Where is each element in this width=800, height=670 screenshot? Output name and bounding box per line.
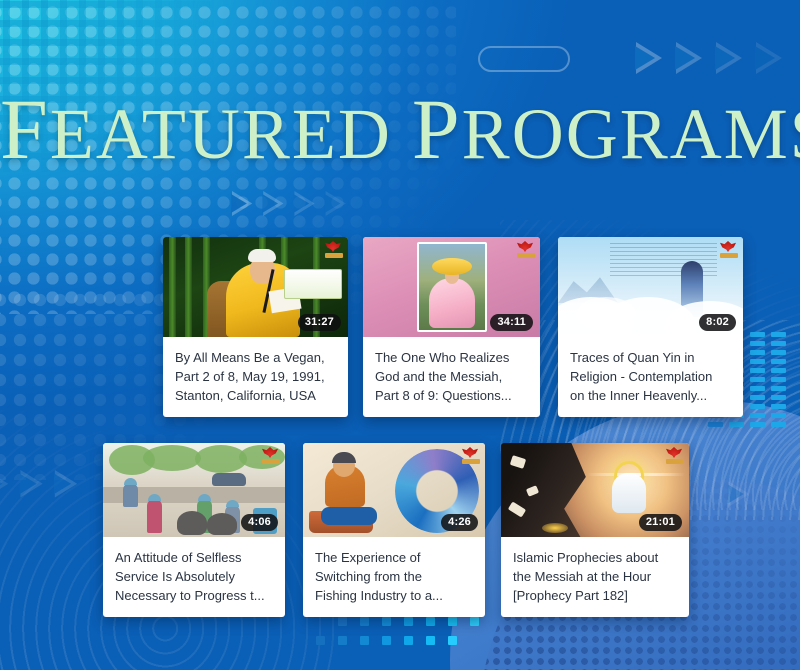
play-triangle-icon	[55, 470, 77, 498]
program-card[interactable]: 34:11 The One Who Realizes God and the M…	[363, 237, 540, 417]
channel-logo-icon	[720, 241, 738, 259]
program-card[interactable]: 4:06 An Attitude of Selfless Service Is …	[103, 443, 285, 617]
program-title-line: Service Is Absolutely	[115, 567, 273, 586]
program-meta: Islamic Prophecies about the Messiah at …	[501, 537, 689, 617]
program-thumbnail[interactable]: 31:27	[163, 237, 348, 337]
program-thumbnail[interactable]: 34:11	[363, 237, 540, 337]
play-triangle-row-top	[636, 42, 782, 74]
duration-badge: 4:26	[441, 514, 478, 531]
play-triangle-icon	[0, 470, 8, 498]
program-title-line: Islamic Prophecies about	[513, 548, 677, 567]
program-title-line: Part 8 of 9: Questions...	[375, 386, 528, 405]
duration-badge: 8:02	[699, 314, 736, 331]
channel-logo-icon	[325, 241, 343, 259]
play-triangle-row-left	[0, 470, 77, 498]
play-triangle-icon	[676, 42, 702, 74]
program-title-line: The Experience of	[315, 548, 473, 567]
play-triangle-icon	[636, 42, 662, 74]
channel-logo-icon	[262, 447, 280, 465]
program-title-line: By All Means Be a Vegan,	[175, 348, 336, 367]
play-triangle-icon	[729, 481, 750, 507]
program-title-line: Switching from the	[315, 567, 473, 586]
pill-outline-decor	[478, 46, 570, 72]
equalizer-column	[750, 332, 765, 427]
program-card[interactable]: 31:27 By All Means Be a Vegan, Part 2 of…	[163, 237, 348, 417]
play-triangle-icon	[232, 191, 252, 216]
program-thumbnail[interactable]: 4:06	[103, 443, 285, 537]
program-title-line: Stanton, California, USA	[175, 386, 336, 405]
play-triangle-row-middle	[232, 191, 346, 216]
program-title-line: Part 2 of 8, May 19, 1991,	[175, 367, 336, 386]
program-title-line: on the Inner Heavenly...	[570, 386, 731, 405]
equalizer-column	[771, 332, 786, 427]
program-title-line: [Prophecy Part 182]	[513, 586, 677, 605]
channel-logo-icon	[517, 241, 535, 259]
program-meta: An Attitude of Selfless Service Is Absol…	[103, 537, 285, 617]
program-title-line: Necessary to Progress t...	[115, 586, 273, 605]
page-title: FEATURED PROGRAMS	[0, 86, 800, 172]
featured-programs-banner: FEATURED PROGRAMS 31:27 By All Means	[0, 0, 800, 670]
program-title-line: God and the Messiah,	[375, 367, 528, 386]
square-dot-row-lower	[316, 636, 457, 645]
program-meta: Traces of Quan Yin in Religion - Contemp…	[558, 337, 743, 417]
program-title-line: The One Who Realizes	[375, 348, 528, 367]
program-title-line: Fishing Industry to a...	[315, 586, 473, 605]
program-card[interactable]: 21:01 Islamic Prophecies about the Messi…	[501, 443, 689, 617]
play-triangle-icon	[20, 470, 42, 498]
program-title-line: the Messiah at the Hour	[513, 567, 677, 586]
channel-logo-icon	[666, 447, 684, 465]
program-card[interactable]: 4:26 The Experience of Switching from th…	[303, 443, 485, 617]
duration-badge: 34:11	[490, 314, 533, 331]
play-triangle-icon	[326, 191, 346, 216]
program-meta: The Experience of Switching from the Fis…	[303, 537, 485, 617]
play-triangle-icon	[716, 42, 742, 74]
program-thumbnail[interactable]: 4:26	[303, 443, 485, 537]
square-dot-row-upper	[338, 617, 479, 626]
duration-badge: 31:27	[298, 314, 341, 331]
page-title-wrap: FEATURED PROGRAMS	[0, 86, 800, 172]
program-title-line: An Attitude of Selfless	[115, 548, 273, 567]
program-meta: By All Means Be a Vegan, Part 2 of 8, Ma…	[163, 337, 348, 417]
play-triangle-icon	[756, 42, 782, 74]
duration-badge: 21:01	[639, 514, 682, 531]
program-meta: The One Who Realizes God and the Messiah…	[363, 337, 540, 417]
program-thumbnail[interactable]: 8:02	[558, 237, 743, 337]
program-title-line: Religion - Contemplation	[570, 367, 731, 386]
play-triangle-icon	[294, 191, 314, 216]
program-card[interactable]: 8:02 Traces of Quan Yin in Religion - Co…	[558, 237, 743, 417]
program-title-line: Traces of Quan Yin in	[570, 348, 731, 367]
duration-badge: 4:06	[241, 514, 278, 531]
program-thumbnail[interactable]: 21:01	[501, 443, 689, 537]
channel-logo-icon	[462, 447, 480, 465]
play-triangle-icon	[263, 191, 283, 216]
play-triangle-right	[729, 481, 750, 507]
